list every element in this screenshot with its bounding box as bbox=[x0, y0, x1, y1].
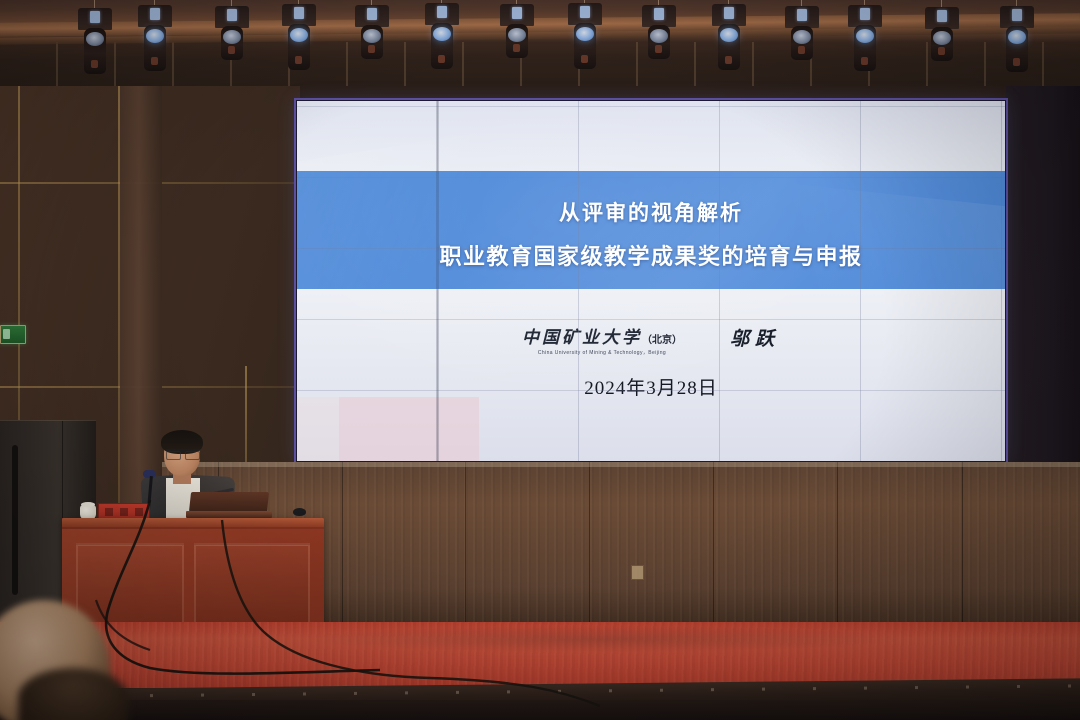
light-led bbox=[655, 45, 662, 53]
audience-shoulders-foreground bbox=[18, 668, 128, 720]
panel-seam bbox=[713, 462, 714, 630]
light-lens bbox=[793, 30, 811, 44]
light-led bbox=[438, 55, 445, 63]
light-led bbox=[228, 46, 235, 54]
light-led bbox=[581, 55, 588, 63]
light-led bbox=[295, 56, 302, 64]
glasses-icon bbox=[166, 449, 200, 458]
right-wall bbox=[1006, 86, 1080, 486]
podium-panel bbox=[194, 543, 310, 631]
light-chip bbox=[294, 7, 304, 19]
nameplate-text bbox=[105, 508, 143, 516]
carpet-shadow bbox=[300, 626, 900, 652]
light-lens bbox=[508, 28, 526, 42]
light-led bbox=[151, 57, 158, 65]
light-chip bbox=[1012, 9, 1022, 21]
light-chip bbox=[437, 6, 447, 18]
podium-panel bbox=[76, 543, 184, 631]
light-lens bbox=[650, 29, 668, 43]
light-chip bbox=[512, 7, 522, 19]
light-lens bbox=[433, 27, 451, 41]
university-name-cn-main: 中国矿业大学 bbox=[522, 328, 642, 347]
light-lens bbox=[363, 29, 381, 43]
emergency-exit-sign-icon bbox=[0, 325, 26, 344]
wall-socket[interactable] bbox=[631, 565, 644, 580]
university-name-cn: 中国矿业大学（北京） bbox=[522, 323, 682, 348]
light-lens bbox=[720, 28, 738, 42]
exit-running-man-icon bbox=[3, 329, 10, 339]
light-chip bbox=[90, 11, 100, 23]
university-campus-cn: （北京） bbox=[642, 335, 682, 346]
teacup-lid bbox=[81, 502, 95, 507]
light-chip bbox=[937, 10, 947, 22]
light-lens bbox=[856, 29, 874, 43]
light-chip bbox=[724, 7, 734, 19]
slide-date: 2024年3月28日 bbox=[297, 373, 1005, 400]
light-chip bbox=[150, 8, 160, 20]
lecture-hall-photo: 从评审的视角解析 职业教育国家级教学成果奖的培育与申报 中国矿业大学（北京） C… bbox=[0, 0, 1080, 720]
light-chip bbox=[580, 6, 590, 18]
light-led bbox=[798, 46, 805, 54]
presentation-slide: 从评审的视角解析 职业教育国家级教学成果奖的培育与申报 中国矿业大学（北京） C… bbox=[297, 101, 1005, 461]
panel-seam bbox=[962, 462, 963, 630]
slide-title-line2: 职业教育国家级教学成果奖的培育与申报 bbox=[297, 239, 1005, 271]
slide-title-line1: 从评审的视角解析 bbox=[559, 202, 743, 225]
led-panel-tint bbox=[297, 397, 339, 461]
light-chip bbox=[797, 9, 807, 21]
light-led bbox=[368, 45, 375, 53]
light-led bbox=[725, 56, 732, 64]
light-led bbox=[91, 60, 98, 68]
panel-seam bbox=[342, 462, 343, 630]
light-chip bbox=[227, 9, 237, 21]
university-name-en: China University of Mining & Technology，… bbox=[522, 349, 682, 356]
panel-seam bbox=[465, 462, 466, 630]
light-chip bbox=[654, 8, 664, 20]
led-panel-tint bbox=[339, 397, 479, 461]
laptop-icon bbox=[186, 492, 270, 518]
ceiling bbox=[0, 0, 1080, 92]
light-lens bbox=[146, 29, 164, 43]
light-chip bbox=[860, 8, 870, 20]
panel-seam bbox=[837, 462, 838, 630]
light-led bbox=[938, 47, 945, 55]
led-video-wall: 从评审的视角解析 职业教育国家级教学成果奖的培育与申报 中国矿业大学（北京） C… bbox=[296, 100, 1006, 462]
cabinet-handle[interactable] bbox=[12, 445, 18, 595]
light-led bbox=[1013, 58, 1020, 66]
presenter-name: 邬跃 bbox=[730, 323, 780, 351]
podium-top-edge bbox=[62, 518, 324, 527]
light-lens bbox=[290, 28, 308, 42]
light-lens bbox=[1008, 30, 1026, 44]
light-led bbox=[513, 44, 520, 52]
stage-skirt bbox=[0, 700, 1080, 720]
mouse-icon bbox=[293, 508, 306, 516]
light-lens bbox=[576, 27, 594, 41]
university-logo: 中国矿业大学（北京） China University of Mining & … bbox=[522, 323, 682, 356]
laptop-base bbox=[186, 511, 272, 518]
laptop-lid bbox=[189, 492, 269, 512]
panel-seam bbox=[589, 462, 590, 630]
light-lens bbox=[933, 31, 951, 45]
stage-floor bbox=[0, 622, 1080, 688]
light-lens bbox=[86, 32, 104, 46]
slide-logo-row: 中国矿业大学（北京） China University of Mining & … bbox=[297, 323, 1005, 356]
light-chip bbox=[367, 8, 377, 20]
light-led bbox=[861, 57, 868, 65]
slide-title: 从评审的视角解析 职业教育国家级教学成果奖的培育与申报 bbox=[297, 197, 1005, 271]
wall-ledge bbox=[162, 462, 1080, 467]
light-lens bbox=[223, 30, 241, 44]
